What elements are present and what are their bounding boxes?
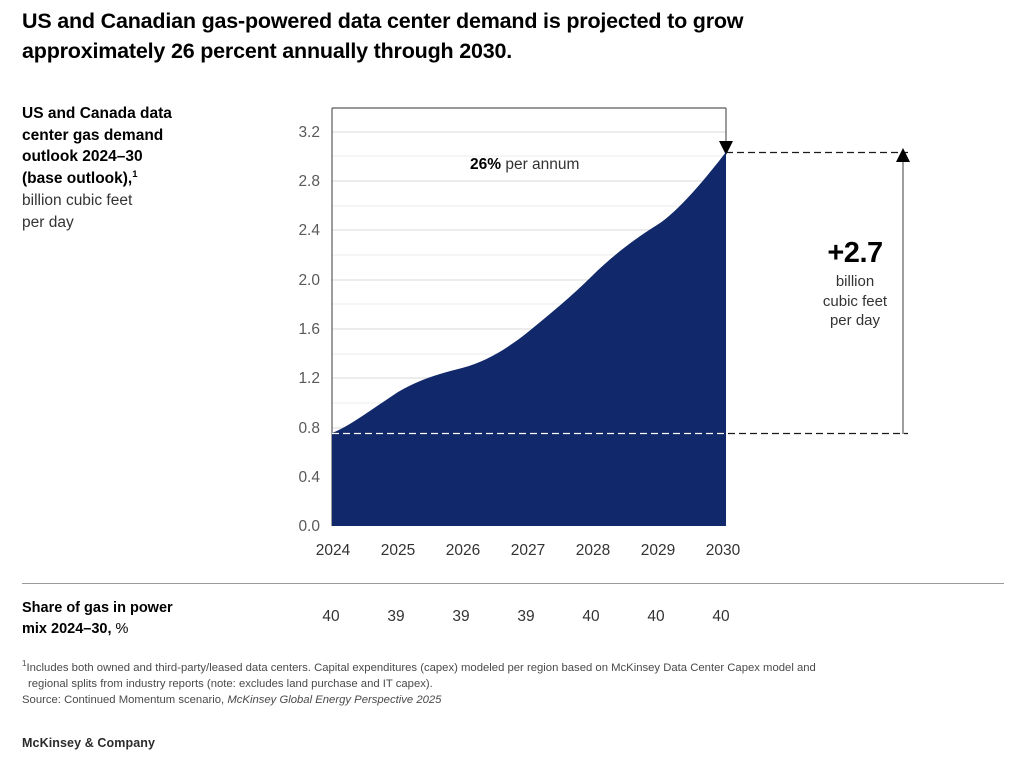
svg-text:2.4: 2.4 — [298, 222, 320, 239]
svg-text:0.0: 0.0 — [298, 518, 320, 535]
share-row-label: Share of gas in power mix 2024–30, % — [22, 598, 262, 640]
svg-text:2030: 2030 — [706, 542, 741, 559]
source-prefix: Source: Continued Momentum scenario, — [22, 694, 227, 706]
share-value-2028: 40 — [556, 608, 626, 626]
share-row-label-line-2: mix 2024–30, — [22, 621, 112, 637]
source-publication: McKinsey Global Energy Perspective 2025 — [227, 694, 441, 706]
svg-text:0.4: 0.4 — [298, 469, 320, 486]
footnote-1-line-1: Includes both owned and third-party/leas… — [26, 662, 815, 674]
footnotes: 1Includes both owned and third-party/lea… — [22, 661, 1012, 709]
brand-mark: McKinsey & Company — [22, 736, 155, 750]
footnote-1-line-2: regional splits from industry reports (n… — [22, 677, 1012, 693]
section-divider — [22, 583, 1004, 584]
svg-text:1.6: 1.6 — [298, 321, 320, 338]
share-row-label-line-1: Share of gas in power — [22, 600, 173, 616]
cagr-label: per annum — [501, 156, 579, 173]
share-value-2026: 39 — [426, 608, 496, 626]
share-value-2024: 40 — [296, 608, 366, 626]
share-row-values: 40 39 39 39 40 40 40 — [296, 608, 758, 632]
x-axis-tick-labels: 2024 2025 2026 2027 2028 2029 2030 — [316, 542, 741, 559]
svg-text:1.2: 1.2 — [298, 370, 320, 387]
area-series-path — [332, 152, 726, 526]
cagr-value: 26% — [470, 156, 501, 173]
share-value-2025: 39 — [361, 608, 431, 626]
share-value-2030: 40 — [686, 608, 756, 626]
svg-text:2029: 2029 — [641, 542, 675, 559]
cagr-annotation: 26% per annum — [470, 156, 579, 174]
svg-text:2026: 2026 — [446, 542, 480, 559]
delta-unit-line-2: cubic feet — [823, 293, 887, 310]
delta-unit-line-3: per day — [830, 312, 880, 329]
svg-text:3.2: 3.2 — [298, 124, 320, 141]
svg-text:2024: 2024 — [316, 542, 351, 559]
svg-text:2028: 2028 — [576, 542, 610, 559]
svg-text:2025: 2025 — [381, 542, 415, 559]
svg-text:2027: 2027 — [511, 542, 545, 559]
svg-text:2.0: 2.0 — [298, 272, 320, 289]
y-axis-tick-labels: 3.2 2.8 2.4 2.0 1.6 1.2 0.8 0.4 0.0 — [298, 124, 320, 535]
share-value-2029: 40 — [621, 608, 691, 626]
delta-unit-line-1: billion — [836, 273, 874, 290]
share-row-unit: % — [112, 621, 129, 637]
source-note: Source: Continued Momentum scenario, McK… — [22, 693, 1012, 709]
delta-units: billion cubic feet per day — [795, 272, 915, 331]
svg-text:0.8: 0.8 — [298, 420, 320, 437]
share-value-2027: 39 — [491, 608, 561, 626]
delta-annotation: +2.7 billion cubic feet per day — [795, 236, 915, 331]
delta-value: +2.7 — [795, 236, 915, 270]
footnote-1: 1Includes both owned and third-party/lea… — [22, 661, 1012, 692]
svg-text:2.8: 2.8 — [298, 173, 320, 190]
